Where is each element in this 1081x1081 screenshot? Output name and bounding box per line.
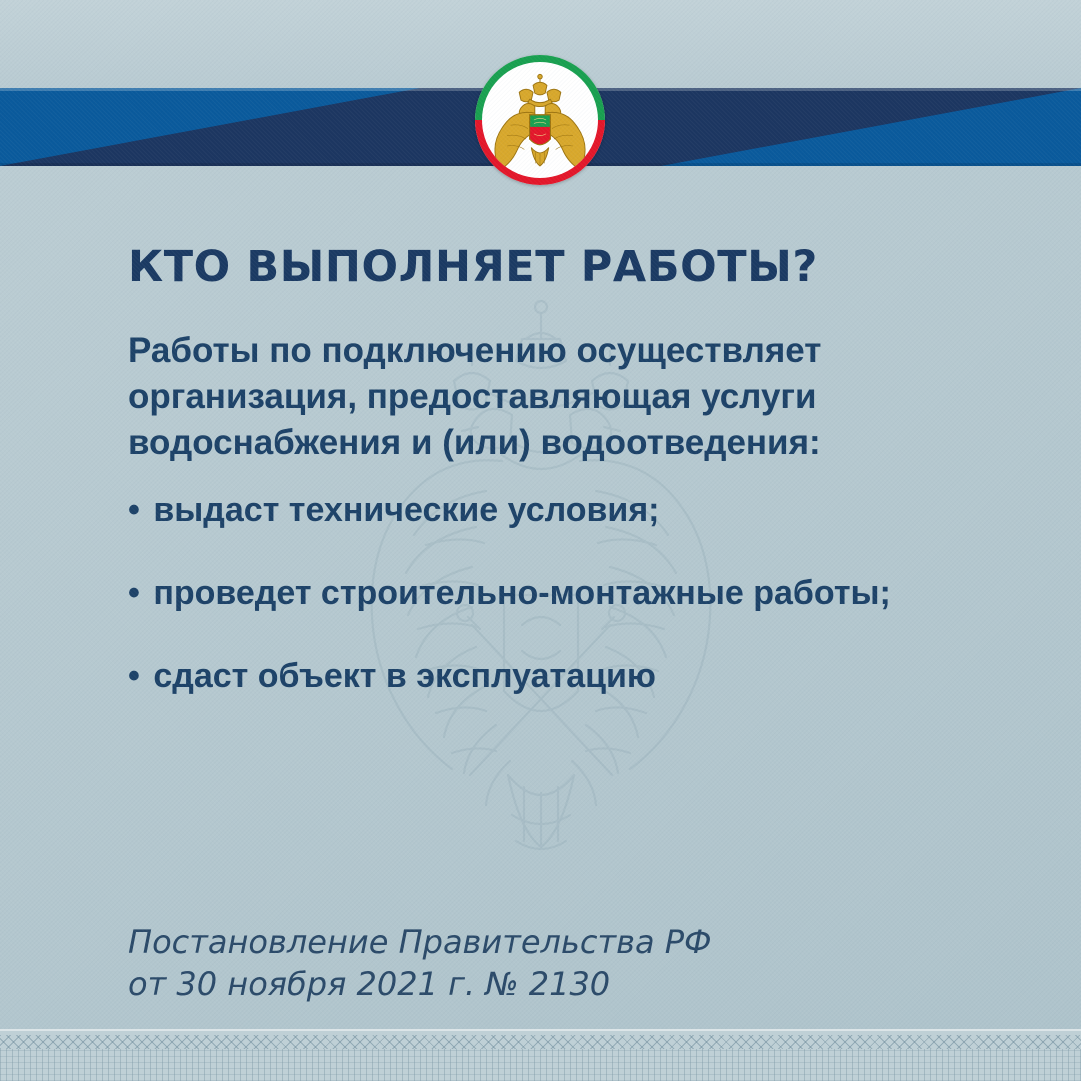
bottom-strip-hairline bbox=[0, 1029, 1081, 1031]
bullet-marker: • bbox=[128, 657, 140, 695]
list-item-label: выдаст технические условия; bbox=[153, 491, 659, 529]
bullet-marker: • bbox=[128, 491, 140, 529]
list-item: • сдаст объект в эксплуатацию bbox=[128, 654, 948, 699]
bullet-marker: • bbox=[128, 574, 140, 612]
list-item-label: сдаст объект в эксплуатацию bbox=[153, 657, 656, 695]
list-item: • проведет строительно-монтажные работы; bbox=[128, 571, 948, 616]
intro-paragraph: Работы по подключению осуществляет орган… bbox=[128, 328, 988, 466]
responsibilities-list: • выдаст технические условия; • проведет… bbox=[128, 488, 948, 699]
banner-right-accent bbox=[661, 88, 1081, 166]
list-item: • выдаст технические условия; bbox=[128, 488, 948, 533]
legal-reference-line1: Постановление Правительства РФ bbox=[128, 921, 988, 963]
bottom-strip-zigzag bbox=[0, 1035, 1081, 1049]
banner-left-accent bbox=[0, 88, 420, 166]
bottom-texture-strip bbox=[0, 1029, 1081, 1081]
legal-reference: Постановление Правительства РФ от 30 ноя… bbox=[128, 921, 988, 1005]
bottom-strip-mesh bbox=[0, 1049, 1081, 1081]
double-headed-eagle-icon bbox=[488, 68, 592, 172]
page-title: КТО ВЫПОЛНЯЕТ РАБОТЫ? bbox=[128, 242, 818, 292]
legal-reference-line2: от 30 ноября 2021 г. № 2130 bbox=[128, 963, 988, 1005]
infographic-poster: КТО ВЫПОЛНЯЕТ РАБОТЫ? Работы по подключе… bbox=[0, 0, 1081, 1081]
emblem-inner-disc bbox=[482, 62, 598, 178]
list-item-label: проведет строительно-монтажные работы; bbox=[153, 574, 890, 612]
content-area: КТО ВЫПОЛНЯЕТ РАБОТЫ? Работы по подключе… bbox=[0, 166, 1081, 1081]
